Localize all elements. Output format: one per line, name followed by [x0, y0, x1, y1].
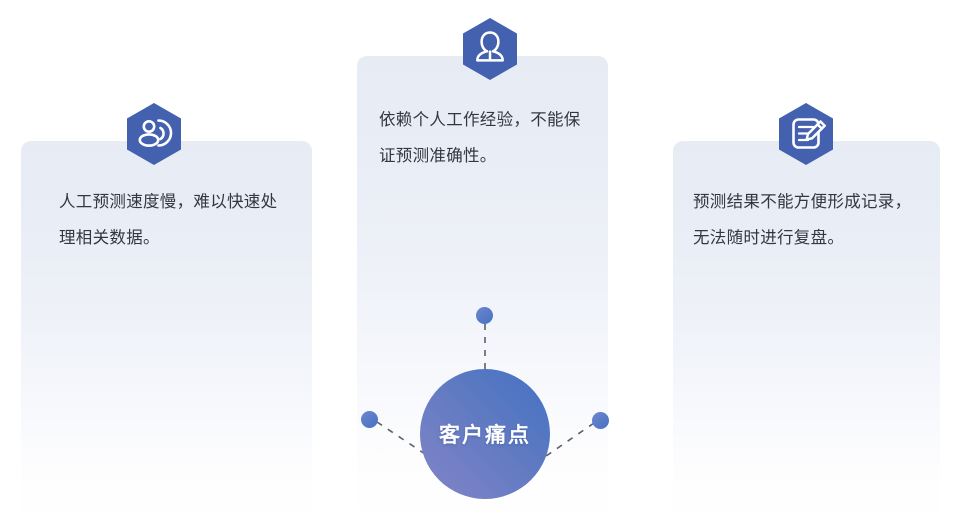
pain-points-diagram: 人工预测速度慢，难以快速处理相关数据。 依赖个人工作经验，不能保证预测准确性。	[0, 0, 969, 522]
pain-point-card-2-text: 依赖个人工作经验，不能保证预测准确性。	[379, 102, 594, 174]
connector-dot-top	[476, 307, 493, 324]
user-silhouette-icon	[463, 18, 517, 80]
center-node[interactable]: 客户痛点	[420, 369, 550, 499]
connector-dot-left	[361, 411, 378, 428]
center-node-label: 客户痛点	[439, 419, 531, 449]
pain-point-card-3-text: 预测结果不能方便形成记录，无法随时进行复盘。	[693, 184, 924, 256]
connector-dot-right	[592, 412, 609, 429]
pain-point-card-1-text: 人工预测速度慢，难以快速处理相关数据。	[59, 184, 282, 256]
pain-point-card-1[interactable]: 人工预测速度慢，难以快速处理相关数据。	[21, 141, 312, 522]
document-edit-icon	[779, 103, 833, 165]
person-speaking-icon	[127, 103, 181, 165]
pain-point-card-3[interactable]: 预测结果不能方便形成记录，无法随时进行复盘。	[673, 141, 940, 522]
